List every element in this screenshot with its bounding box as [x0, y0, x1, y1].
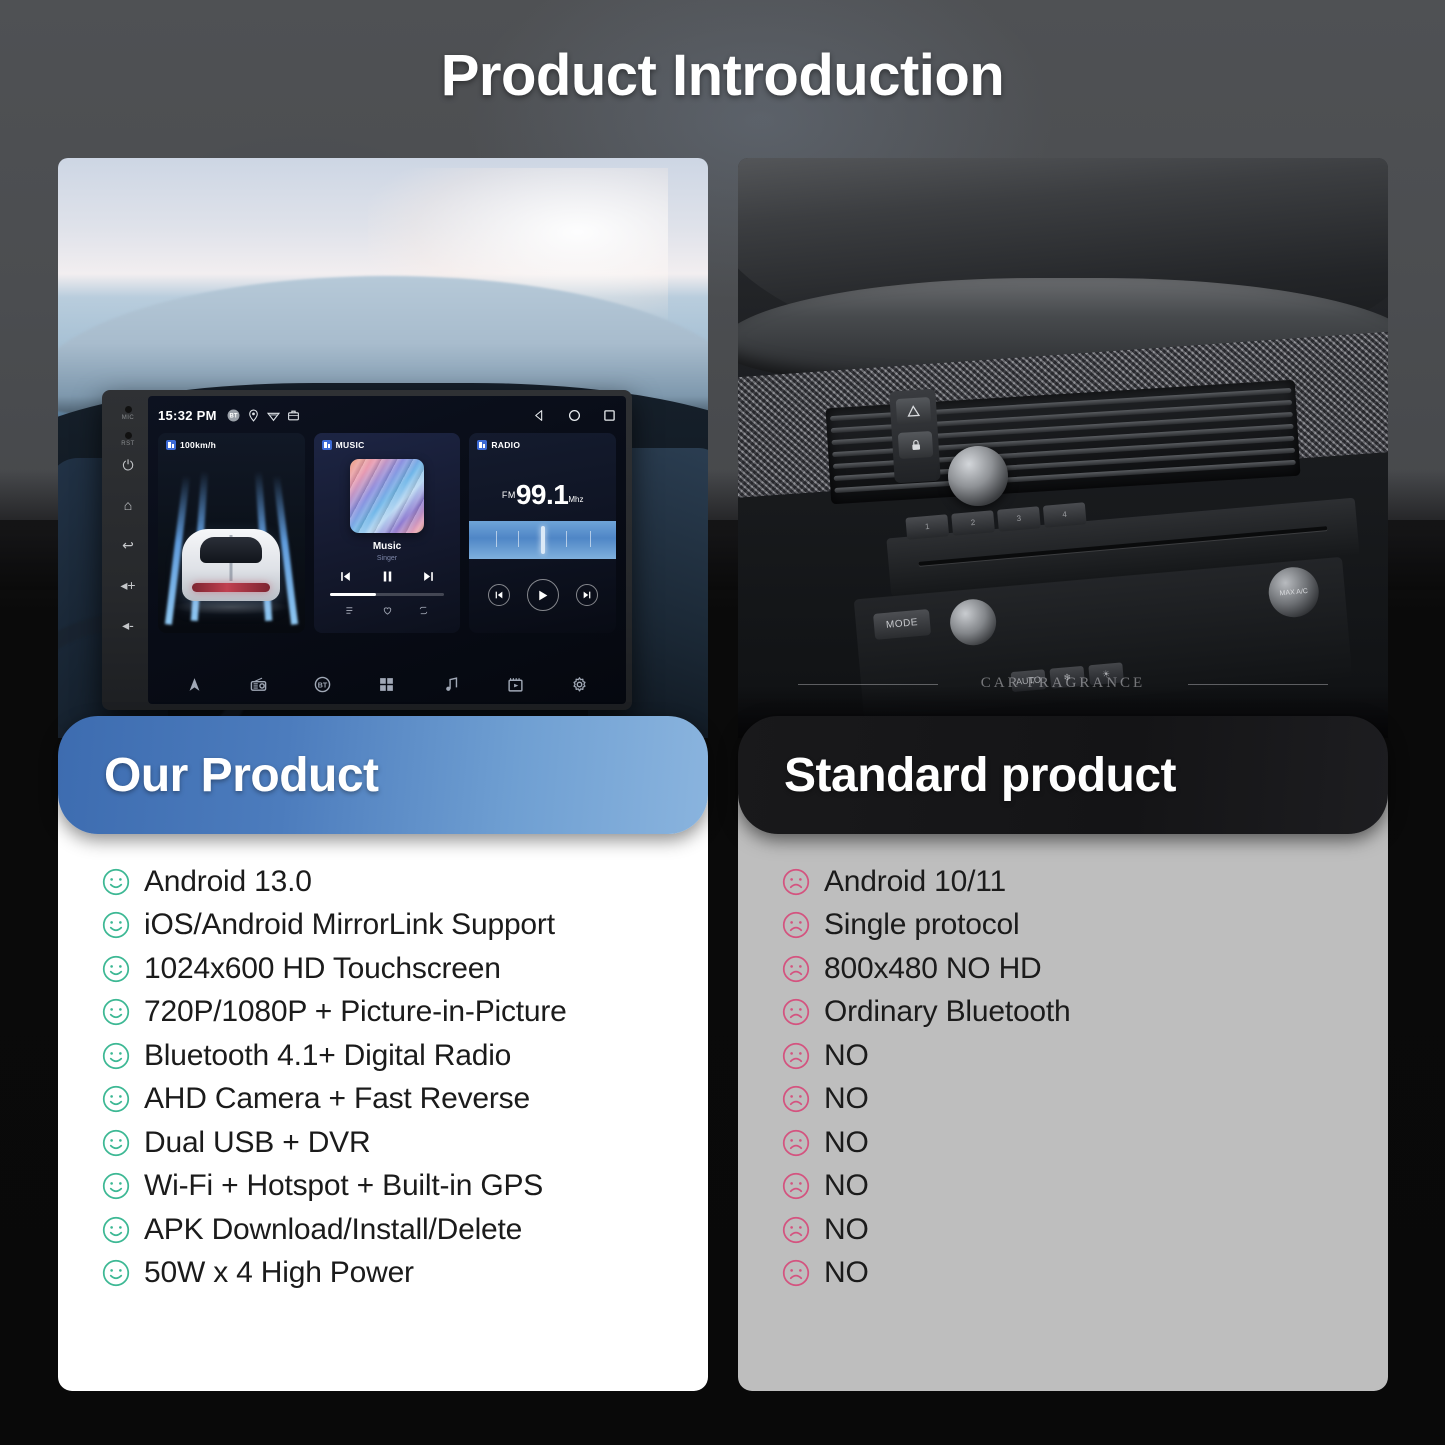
svg-text:BT: BT	[318, 681, 328, 689]
feature-label: NO	[824, 1169, 869, 1203]
car-rear-window	[200, 537, 262, 563]
list-item: NO	[738, 1165, 1388, 1209]
feature-label: NO	[824, 1039, 869, 1073]
list-item: NO	[738, 1252, 1388, 1296]
album-art	[350, 459, 424, 533]
hazard-warning-icon[interactable]	[896, 397, 932, 425]
feature-label: Android 10/11	[824, 865, 1006, 899]
music-widget[interactable]: MUSIC Music Singer	[314, 433, 461, 633]
next-track-icon[interactable]	[422, 570, 435, 583]
smiley-face-icon	[102, 1259, 130, 1287]
play-icon[interactable]	[527, 579, 559, 611]
video-player-icon[interactable]	[507, 676, 524, 693]
page-title: Product Introduction	[0, 42, 1445, 109]
feature-label: NO	[824, 1126, 869, 1160]
radio-widget-title: RADIO	[477, 440, 608, 450]
apps-grid-icon[interactable]	[378, 676, 395, 693]
smiley-face-icon	[102, 1216, 130, 1244]
feature-label: iOS/Android MirrorLink Support	[144, 908, 555, 942]
pause-icon[interactable]	[380, 569, 395, 584]
list-item: APK Download/Install/Delete	[58, 1208, 708, 1252]
central-lock-icon[interactable]	[898, 431, 934, 459]
feature-label: NO	[824, 1256, 869, 1290]
sad-face-icon	[782, 955, 810, 983]
product-introduction-infographic: Product Introduction MIC RST ⏻ ⌂ ↩ ◂+	[0, 0, 1445, 1445]
list-item: Single protocol	[738, 904, 1388, 948]
standard-product-banner: Standard product	[738, 716, 1388, 834]
radio-frequency-value: 99.1	[516, 479, 569, 510]
home-nav-icon[interactable]	[568, 409, 581, 422]
smiley-face-icon	[102, 1129, 130, 1157]
sad-face-icon	[782, 1042, 810, 1070]
playlist-icon[interactable]	[345, 605, 356, 616]
feature-label: Android 13.0	[144, 865, 312, 899]
next-station-icon[interactable]	[576, 584, 598, 606]
feature-label: 1024x600 HD Touchscreen	[144, 952, 501, 986]
smiley-face-icon	[102, 955, 130, 983]
our-product-banner-label: Our Product	[104, 748, 379, 803]
list-item: NO	[738, 1034, 1388, 1078]
widget-badge-icon	[166, 440, 176, 450]
widget-badge-icon	[477, 440, 487, 450]
reset-label: RST	[121, 441, 135, 447]
radio-widget[interactable]: RADIO FM99.1Mhz	[469, 433, 616, 633]
status-clock: 15:32 PM	[158, 408, 217, 423]
feature-label: 720P/1080P + Picture-in-Picture	[144, 995, 567, 1029]
max-ac-knob[interactable]: MAX A/C	[1267, 565, 1321, 619]
music-transport-controls	[314, 569, 461, 584]
location-pin-icon	[247, 409, 260, 422]
feature-label: AHD Camera + Fast Reverse	[144, 1082, 530, 1116]
back-button[interactable]: ↩	[122, 538, 134, 552]
standard-product-feature-panel: Android 10/11 Single protocol 800x480 NO…	[738, 786, 1388, 1391]
android-nav-buttons	[533, 409, 616, 422]
feature-label: Single protocol	[824, 908, 1019, 942]
back-nav-icon[interactable]	[533, 409, 546, 422]
driving-assist-title: 100km/h	[166, 440, 297, 450]
app-dock: BT	[148, 668, 626, 700]
gallery-card-icon	[287, 409, 300, 422]
home-button[interactable]: ⌂	[124, 498, 132, 512]
sad-face-icon	[782, 1172, 810, 1200]
list-item: Ordinary Bluetooth	[738, 991, 1388, 1035]
song-title: Music	[314, 541, 461, 552]
list-item: 50W x 4 High Power	[58, 1252, 708, 1296]
our-product-column: MIC RST ⏻ ⌂ ↩ ◂+ ◂- 15:32 PM	[58, 158, 708, 1391]
our-product-feature-panel: Android 13.0 iOS/Android MirrorLink Supp…	[58, 786, 708, 1391]
sad-face-icon	[782, 1085, 810, 1113]
sad-face-icon	[782, 1259, 810, 1287]
fan-speed-knob[interactable]	[948, 597, 998, 647]
feature-label: NO	[824, 1082, 869, 1116]
music-note-icon[interactable]	[443, 676, 460, 693]
volume-up-button[interactable]: ◂+	[120, 578, 135, 592]
sad-face-icon	[782, 1129, 810, 1157]
recents-nav-icon[interactable]	[603, 409, 616, 422]
bluetooth-icon: BT	[227, 409, 240, 422]
feature-label: 800x480 NO HD	[824, 952, 1042, 986]
status-bar: 15:32 PM BT	[158, 404, 616, 426]
preset-button[interactable]: 4	[1043, 502, 1087, 528]
radio-tuning-band[interactable]	[469, 521, 616, 559]
repeat-icon[interactable]	[418, 605, 429, 616]
playback-progress-bar[interactable]	[330, 593, 445, 596]
sad-face-icon	[782, 868, 810, 896]
air-vent-knob[interactable]	[948, 446, 1008, 506]
music-widget-title: MUSIC	[322, 440, 453, 450]
radio-frequency-display: FM99.1Mhz	[469, 479, 616, 511]
our-product-banner: Our Product	[58, 716, 708, 834]
smiley-face-icon	[102, 1172, 130, 1200]
preset-button[interactable]: 1	[905, 514, 949, 540]
radio-frequency-unit: Mhz	[568, 495, 583, 504]
our-product-photo: MIC RST ⏻ ⌂ ↩ ◂+ ◂- 15:32 PM	[58, 158, 708, 738]
status-icons: BT	[227, 409, 300, 422]
radio-icon[interactable]	[250, 676, 267, 693]
wifi-icon	[267, 409, 280, 422]
widget-badge-icon	[322, 440, 332, 450]
preset-button[interactable]: 2	[951, 510, 995, 536]
list-item: iOS/Android MirrorLink Support	[58, 904, 708, 948]
preset-button[interactable]: 3	[997, 506, 1041, 532]
sad-face-icon	[782, 911, 810, 939]
smiley-face-icon	[102, 911, 130, 939]
music-title-label: MUSIC	[336, 440, 365, 450]
list-item: Wi-Fi + Hotspot + Built-in GPS	[58, 1165, 708, 1209]
previous-track-icon[interactable]	[339, 570, 352, 583]
radio-band-label: FM	[502, 490, 516, 500]
feature-label: NO	[824, 1213, 869, 1247]
feature-label: Ordinary Bluetooth	[824, 995, 1071, 1029]
list-item: NO	[738, 1208, 1388, 1252]
sad-face-icon	[782, 998, 810, 1026]
smiley-face-icon	[102, 1042, 130, 1070]
list-item: Dual USB + DVR	[58, 1121, 708, 1165]
smiley-face-icon	[102, 1085, 130, 1113]
mode-button[interactable]: MODE	[873, 609, 931, 640]
feature-label: Wi-Fi + Hotspot + Built-in GPS	[144, 1169, 543, 1203]
list-item: AHD Camera + Fast Reverse	[58, 1078, 708, 1122]
standard-product-column: 1 2 3 4 MODE MAX A/C AUTO ❄ ☀ CAR FRAGRA…	[738, 158, 1388, 1391]
microphone-pinhole	[125, 406, 132, 413]
navigation-icon[interactable]	[186, 676, 203, 693]
list-item: Bluetooth 4.1+ Digital Radio	[58, 1034, 708, 1078]
smiley-face-icon	[102, 868, 130, 896]
list-item: Android 13.0	[58, 860, 708, 904]
hazard-button-cluster[interactable]	[889, 389, 941, 484]
list-item: NO	[738, 1121, 1388, 1165]
list-item: Android 10/11	[738, 860, 1388, 904]
feature-label: Bluetooth 4.1+ Digital Radio	[144, 1039, 511, 1073]
radio-transport-controls	[469, 579, 616, 611]
svg-text:BT: BT	[229, 413, 237, 419]
car-stereo-head-unit: MIC RST ⏻ ⌂ ↩ ◂+ ◂- 15:32 PM	[102, 390, 632, 710]
home-widgets: 100km/h	[158, 433, 616, 633]
car-graphic	[182, 529, 280, 601]
car-taillight	[192, 583, 270, 592]
settings-gear-icon[interactable]	[571, 676, 588, 693]
reset-pinhole	[125, 432, 132, 439]
volume-down-button[interactable]: ◂-	[122, 618, 134, 632]
song-artist: Singer	[314, 555, 461, 562]
power-button[interactable]: ⏻	[122, 458, 133, 472]
list-item: NO	[738, 1078, 1388, 1122]
standard-product-banner-label: Standard product	[784, 748, 1176, 803]
radio-title-label: RADIO	[491, 440, 520, 450]
standard-product-photo: 1 2 3 4 MODE MAX A/C AUTO ❄ ☀ CAR FRAGRA…	[738, 158, 1388, 738]
radio-tuner-needle[interactable]	[541, 526, 545, 554]
mic-label: MIC	[122, 415, 135, 421]
smiley-face-icon	[102, 998, 130, 1026]
head-unit-screen[interactable]: 15:32 PM BT	[148, 396, 626, 704]
speed-label: 100km/h	[180, 440, 216, 450]
car-shadow	[171, 599, 291, 615]
music-extra-controls	[314, 605, 461, 616]
sad-face-icon	[782, 1216, 810, 1244]
list-item: 720P/1080P + Picture-in-Picture	[58, 991, 708, 1035]
favorite-heart-icon[interactable]	[382, 605, 393, 616]
feature-label: Dual USB + DVR	[144, 1126, 370, 1160]
list-item: 1024x600 HD Touchscreen	[58, 947, 708, 991]
feature-label: APK Download/Install/Delete	[144, 1213, 522, 1247]
head-unit-bezel: MIC RST ⏻ ⌂ ↩ ◂+ ◂-	[108, 396, 148, 704]
previous-station-icon[interactable]	[488, 584, 510, 606]
driving-assist-widget[interactable]: 100km/h	[158, 433, 305, 633]
feature-label: 50W x 4 High Power	[144, 1256, 414, 1290]
list-item: 800x480 NO HD	[738, 947, 1388, 991]
bluetooth-icon[interactable]: BT	[314, 676, 331, 693]
